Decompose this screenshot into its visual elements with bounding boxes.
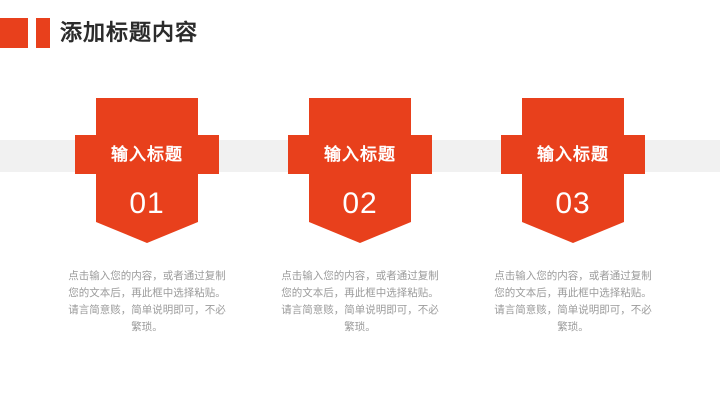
column-item-3[interactable]: 03 输入标题 点击输入您的内容，或者通过复制您的文本后，再此框中选择粘贴。请言…: [453, 0, 693, 405]
column-body-text: 点击输入您的内容，或者通过复制您的文本后，再此框中选择粘贴。请言简意赅，简单说明…: [67, 268, 227, 336]
column-title-box[interactable]: 输入标题: [288, 135, 432, 174]
column-title-box[interactable]: 输入标题: [501, 135, 645, 174]
column-title-label: 输入标题: [324, 146, 396, 163]
column-body-text: 点击输入您的内容，或者通过复制您的文本后，再此框中选择粘贴。请言简意赅，简单说明…: [493, 268, 653, 336]
column-body-text: 点击输入您的内容，或者通过复制您的文本后，再此框中选择粘贴。请言简意赅，简单说明…: [280, 268, 440, 336]
column-title-box[interactable]: 输入标题: [75, 135, 219, 174]
column-item-2[interactable]: 02 输入标题 点击输入您的内容，或者通过复制您的文本后，再此框中选择粘贴。请言…: [240, 0, 480, 405]
column-item-1[interactable]: 01 输入标题 点击输入您的内容，或者通过复制您的文本后，再此框中选择粘贴。请言…: [27, 0, 267, 405]
column-title-label: 输入标题: [537, 146, 609, 163]
columns-container: 01 输入标题 点击输入您的内容，或者通过复制您的文本后，再此框中选择粘贴。请言…: [0, 0, 720, 405]
slide-canvas: 添加标题内容 01 输入标题 点击输入您的内容，或者通过复制您的文本后，再此框中…: [0, 0, 720, 405]
column-number: 01: [27, 186, 267, 222]
column-number: 03: [453, 186, 693, 222]
column-number: 02: [240, 186, 480, 222]
column-title-label: 输入标题: [111, 146, 183, 163]
